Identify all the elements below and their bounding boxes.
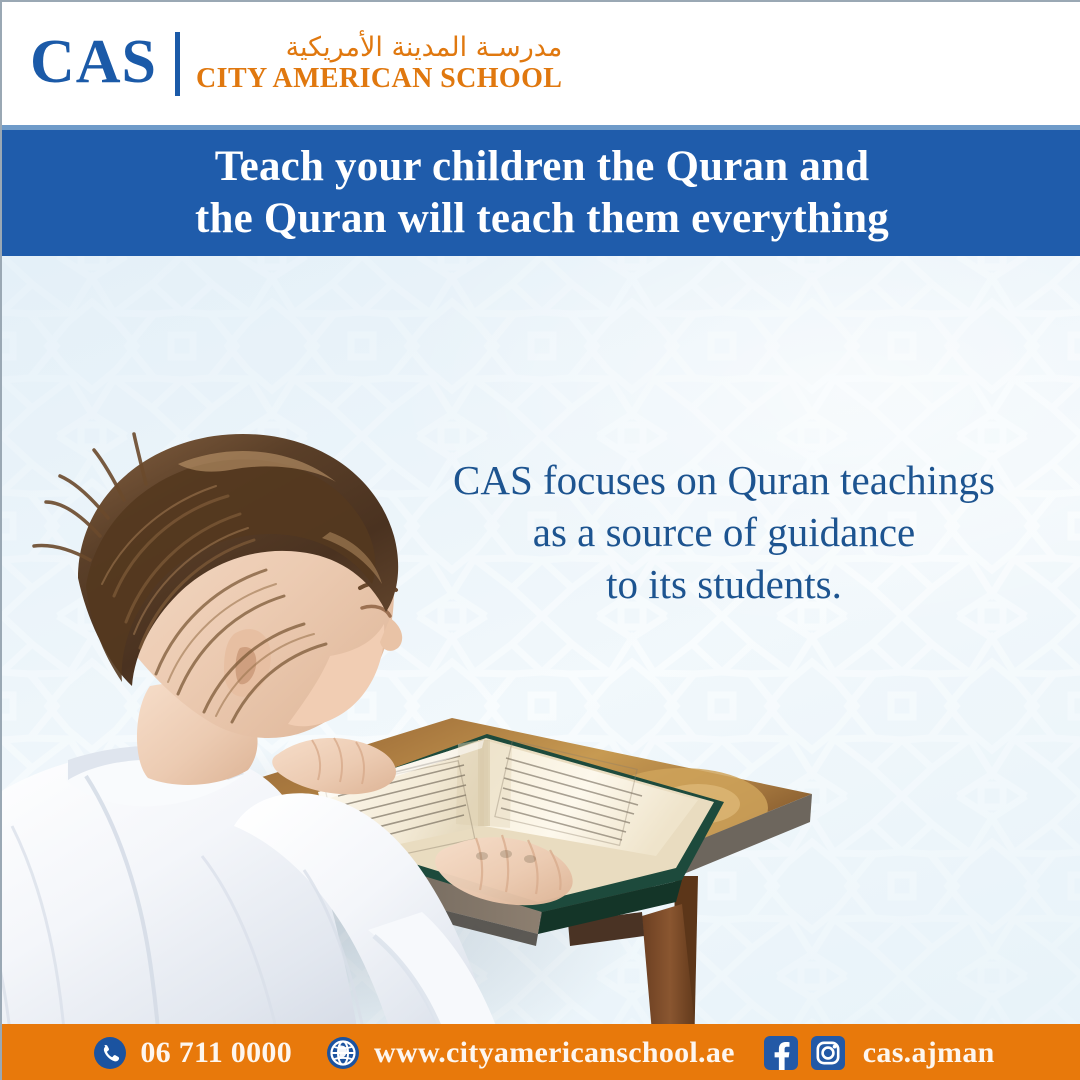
footer-contact-bar: 06 711 0000 www.cityamericanschool.ae	[2, 1024, 1080, 1080]
social-handle: cas.ajman	[863, 1036, 995, 1070]
phone-icon	[93, 1036, 127, 1070]
phone-number: 06 711 0000	[140, 1036, 292, 1070]
headline-line-2: the Quran will teach them everything	[195, 193, 889, 245]
globe-icon	[326, 1036, 360, 1070]
logo-divider	[175, 32, 180, 96]
school-logo: CAS مدرسـة المدينة الأمريكية CITY AMERIC…	[30, 32, 562, 96]
tagline-line-2: as a source of guidance	[394, 506, 1054, 558]
footer-social-group: cas.ajman	[763, 1035, 995, 1071]
tagline-line-3: to its students.	[394, 558, 1054, 610]
headline-line-1: Teach your children the Quran and	[215, 141, 870, 193]
footer-website-group[interactable]: www.cityamericanschool.ae	[326, 1036, 735, 1070]
instagram-icon[interactable]	[810, 1035, 846, 1071]
headline-banner: Teach your children the Quran and the Qu…	[2, 130, 1080, 256]
social-media-poster: CAS مدرسـة المدينة الأمريكية CITY AMERIC…	[0, 0, 1080, 1080]
header-divider-rule	[2, 125, 1080, 130]
logo-name-arabic: مدرسـة المدينة الأمريكية	[196, 33, 562, 63]
facebook-icon[interactable]	[763, 1035, 799, 1071]
logo-name-english: CITY AMERICAN SCHOOL	[196, 64, 562, 93]
tagline-block: CAS focuses on Quran teachings as a sour…	[394, 454, 1054, 610]
main-content-area: CAS focuses on Quran teachings as a sour…	[2, 256, 1080, 1024]
header-bar: CAS مدرسـة المدينة الأمريكية CITY AMERIC…	[2, 2, 1080, 125]
footer-phone-group[interactable]: 06 711 0000	[93, 1036, 292, 1070]
website-url: www.cityamericanschool.ae	[374, 1036, 735, 1070]
tagline-line-1: CAS focuses on Quran teachings	[394, 454, 1054, 506]
logo-monogram: CAS	[30, 31, 175, 93]
logo-wordmark: مدرسـة المدينة الأمريكية CITY AMERICAN S…	[196, 33, 562, 94]
